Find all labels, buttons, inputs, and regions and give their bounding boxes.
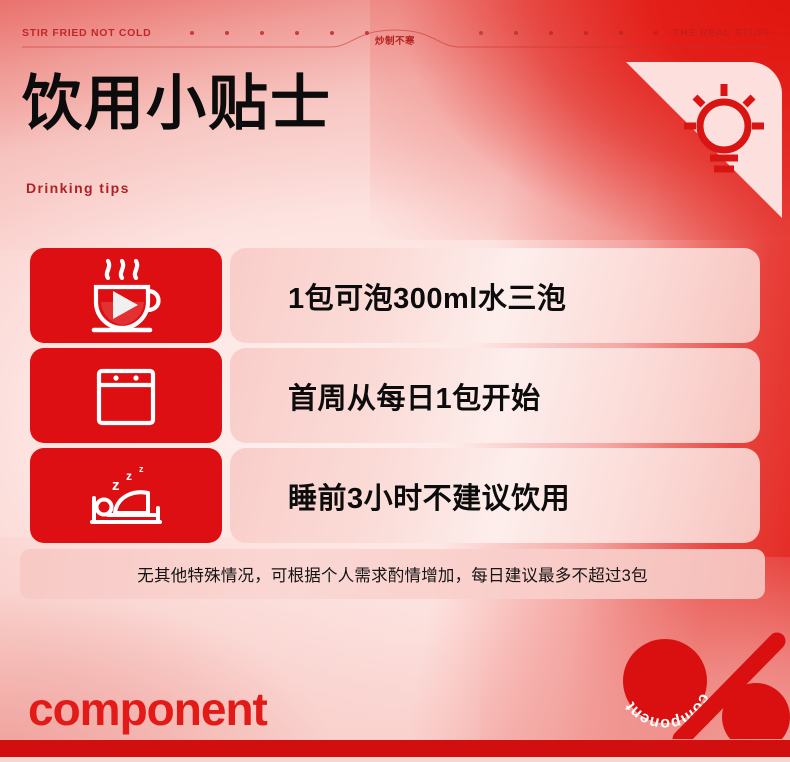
page-subtitle: Drinking tips [26, 180, 130, 196]
page-title: 饮用小贴士 [22, 74, 332, 134]
percent-mark-icon: component [605, 619, 790, 739]
percent-mark-graphic: component [605, 619, 790, 739]
tip-text: 首周从每日1包开始 [288, 375, 541, 417]
tip-row: 首周从每日1包开始 [30, 348, 760, 443]
tip-text-card: 睡前3小时不建议饮用 [230, 448, 760, 543]
tip-row: z z z 睡前3小时不建议饮用 [30, 448, 760, 543]
tip-text-card: 1包可泡300ml水三泡 [230, 248, 760, 343]
bottom-stripe-taper [620, 740, 790, 757]
svg-text:z: z [112, 477, 120, 494]
tip-text: 1包可泡300ml水三泡 [288, 275, 566, 317]
footnote-bar: 无其他特殊情况，可根据个人需求酌情增加，每日建议最多不超过3包 [20, 549, 765, 599]
stripe-taper-shape [620, 740, 790, 757]
calendar-icon [94, 364, 158, 428]
tip-text-card: 首周从每日1包开始 [230, 348, 760, 443]
tip-row: 1包可泡300ml水三泡 [30, 248, 760, 343]
tip-text: 睡前3小时不建议饮用 [288, 475, 570, 517]
sleeping-in-bed-zzz-icon: z z z [86, 460, 166, 532]
teacup-steam-play-icon [78, 258, 174, 334]
tip-icon-tile-sleep: z z z [30, 448, 222, 543]
lightbulb-icon [622, 58, 782, 223]
brand-wordmark: component [28, 686, 267, 732]
tip-icon-tile-calendar [30, 348, 222, 443]
ribbon-center-label: 炒制不寒 [0, 33, 790, 47]
tip-icon-tile-teacup [30, 248, 222, 343]
svg-text:z: z [126, 469, 132, 483]
lightbulb-corner-badge [622, 58, 782, 223]
top-ribbon: STIR FRIED NOT COLD 炒制不寒 THE REAL STUFF [0, 0, 790, 56]
ribbon-right-label: THE REAL STUFF [673, 27, 772, 39]
footnote-text: 无其他特殊情况，可根据个人需求酌情增加，每日建议最多不超过3包 [137, 562, 647, 586]
svg-text:z: z [139, 464, 144, 474]
